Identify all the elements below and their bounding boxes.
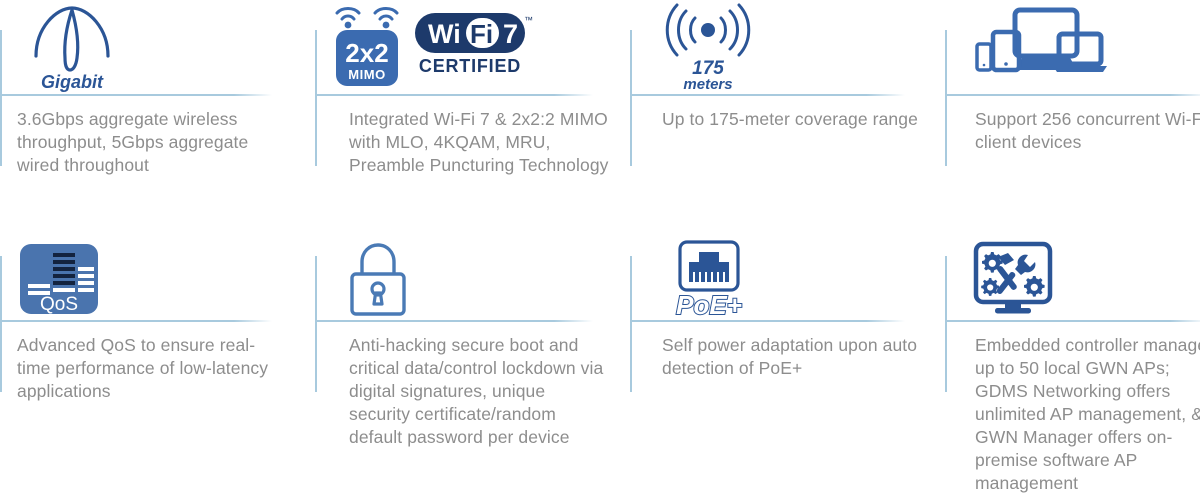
qos-equalizer-icon: QoS [20,244,98,314]
gigabit-speedometer-icon: Gigabit [30,2,114,92]
monitor-tools-gears-icon [971,242,1055,316]
icon-zone: QoS [0,230,315,320]
feature-caption: Support 256 concurrent Wi-Fi client devi… [975,108,1200,154]
feature-card-wifi7: 2x2 MIMO Wi Fi 7 ™ CERTIFIED Integrated … [315,0,630,230]
card-horizontal-rule [315,94,593,96]
feature-caption: Up to 175-meter coverage range [662,108,924,131]
icon-zone [945,230,1200,320]
feature-caption: Integrated Wi-Fi 7 & 2x2:2 MIMO with MLO… [349,108,611,177]
feature-card-qos: QoS Advanced QoS to ensure real-time per… [0,230,315,501]
wifi7-icon-group: 2x2 MIMO Wi Fi 7 ™ CERTIFIED [329,0,532,88]
coverage-unit-label: meters [683,76,732,93]
padlock-icon [347,242,409,316]
feature-caption: Embedded controller manages up to 50 loc… [975,334,1200,495]
badge-fi-text: Fi [470,19,493,49]
icon-zone: 175 meters [630,0,945,94]
card-horizontal-rule [945,94,1200,96]
gigabit-icon-label: Gigabit [41,72,104,92]
mimo-top-label: 2x2 [345,38,388,68]
feature-card-poe: PoE+ Self power adaptation upon auto det… [630,230,945,501]
feature-highlights-board: Gigabit 3.6Gbps aggregate wireless throu… [0,0,1200,501]
icon-zone: Gigabit [0,0,315,94]
icon-zone: PoE+ [630,230,945,320]
card-horizontal-rule [0,94,272,96]
feature-card-controller: Embedded controller manages up to 50 loc… [945,230,1200,501]
icon-zone [315,230,630,320]
feature-card-security: Anti-hacking secure boot and critical da… [315,230,630,501]
mimo-bottom-label: MIMO [348,67,385,82]
feature-row-bottom: QoS Advanced QoS to ensure real-time per… [0,230,1200,501]
badge-certified-label: CERTIFIED [419,56,521,76]
poe-icon-label: PoE+ [676,290,742,320]
feature-row-top: Gigabit 3.6Gbps aggregate wireless throu… [0,0,1200,230]
icon-zone: 2x2 MIMO Wi Fi 7 ™ CERTIFIED [315,0,630,94]
feature-caption: 3.6Gbps aggregate wireless throughput, 5… [17,108,285,177]
icon-zone [945,0,1200,94]
feature-card-gigabit: Gigabit 3.6Gbps aggregate wireless throu… [0,0,315,230]
card-horizontal-rule [630,320,905,322]
feature-caption: Anti-hacking secure boot and critical da… [349,334,611,449]
card-horizontal-rule [315,320,593,322]
badge-trademark: ™ [524,15,533,25]
wifi7-certified-badge-icon: Wi Fi 7 ™ CERTIFIED [414,12,532,78]
card-horizontal-rule [0,320,272,322]
card-horizontal-rule [945,320,1200,322]
badge-wi-text: Wi [428,19,461,49]
feature-caption: Advanced QoS to ensure real-time perform… [17,334,285,403]
feature-card-coverage: 175 meters Up to 175-meter coverage rang… [630,0,945,230]
signal-broadcast-icon: 175 meters [662,2,754,92]
feature-caption: Self power adaptation upon auto detectio… [662,334,924,380]
multi-device-icon [973,6,1105,82]
qos-icon-label: QoS [40,294,78,315]
badge-number: 7 [503,19,518,49]
feature-card-clients: Support 256 concurrent Wi-Fi client devi… [945,0,1200,230]
mimo-2x2-icon: 2x2 MIMO [329,0,405,88]
card-horizontal-rule [630,94,905,96]
rj45-ethernet-port-icon: PoE+ [668,242,754,318]
